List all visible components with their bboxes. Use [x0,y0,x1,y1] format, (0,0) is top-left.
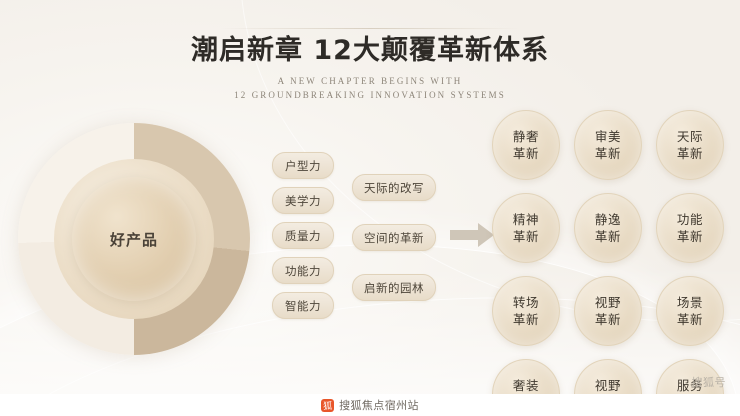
bubble-line2: 革新 [513,228,539,245]
donut-core: 好产品 [72,177,196,301]
slide-canvas: 潮启新章 12大颠覆革新体系 A NEW CHAPTER BEGINS WITH… [0,0,740,416]
title-subtitle-line1: A NEW CHAPTER BEGINS WITH [0,74,740,88]
innovation-bubble-grid: 静奢 革新 审美 革新 天际 革新 精神 革新 静逸 革新 功能 [492,110,724,416]
theme-pill-column: 天际的改写 空间的革新 启新的园林 [352,174,436,324]
bubble-line1: 审美 [595,128,621,145]
innovation-bubble[interactable]: 视野 革新 [574,276,642,346]
innovation-bubble[interactable]: 审美 革新 [574,110,642,180]
innovation-bubble[interactable]: 转场 革新 [492,276,560,346]
bubble-line1: 静奢 [513,128,539,145]
bubble-line1: 视野 [595,377,621,394]
capability-pill[interactable]: 功能力 [272,257,334,284]
capability-pill-column: 户型力 美学力 质量力 功能力 智能力 [272,152,334,327]
page-title: 潮启新章 12大颠覆革新体系 [0,34,740,68]
theme-pill[interactable]: 天际的改写 [352,174,436,201]
watermark-bar: 狐 搜狐焦点宿州站 [0,394,740,416]
bubble-line2: 革新 [513,311,539,328]
innovation-bubble[interactable]: 精神 革新 [492,193,560,263]
capability-pill[interactable]: 质量力 [272,222,334,249]
title-subtitle-line2: 12 GROUNDBREAKING INNOVATION SYSTEMS [0,88,740,102]
bubble-line2: 革新 [677,228,703,245]
capability-pill[interactable]: 美学力 [272,187,334,214]
bubble-row: 静奢 革新 审美 革新 天际 革新 [492,110,724,180]
watermark-bar-content: 狐 搜狐焦点宿州站 [321,397,419,413]
title-divider [220,28,520,29]
capability-pill[interactable]: 户型力 [272,152,334,179]
donut-core-label: 好产品 [110,229,158,250]
innovation-bubble[interactable]: 功能 革新 [656,193,724,263]
bubble-line1: 场景 [677,294,703,311]
bubble-line2: 革新 [513,145,539,162]
theme-pill[interactable]: 空间的革新 [352,224,436,251]
innovation-bubble[interactable]: 静奢 革新 [492,110,560,180]
bubble-line2: 革新 [677,311,703,328]
bubble-line2: 革新 [677,145,703,162]
watermark-corner: 搜狐号 [692,374,727,390]
donut-diagram: 好产品 [18,123,250,355]
bubble-line2: 革新 [595,311,621,328]
capability-pill[interactable]: 智能力 [272,292,334,319]
sohu-logo-icon: 狐 [321,399,334,412]
title-block: 潮启新章 12大颠覆革新体系 A NEW CHAPTER BEGINS WITH… [0,34,740,102]
bubble-line2: 革新 [595,145,621,162]
bubble-line1: 奢装 [513,377,539,394]
watermark-bar-label: 搜狐焦点宿州站 [339,397,419,413]
bubble-line1: 精神 [513,211,539,228]
bubble-line1: 天际 [677,128,703,145]
bubble-line2: 革新 [595,228,621,245]
arrow-right-icon [450,222,494,248]
bubble-row: 转场 革新 视野 革新 场景 革新 [492,276,724,346]
innovation-bubble[interactable]: 场景 革新 [656,276,724,346]
bubble-line1: 功能 [677,211,703,228]
bubble-line1: 静逸 [595,211,621,228]
theme-pill[interactable]: 启新的园林 [352,274,436,301]
bubble-row: 精神 革新 静逸 革新 功能 革新 [492,193,724,263]
innovation-bubble[interactable]: 静逸 革新 [574,193,642,263]
bubble-line1: 转场 [513,294,539,311]
innovation-bubble[interactable]: 天际 革新 [656,110,724,180]
bubble-line1: 视野 [595,294,621,311]
